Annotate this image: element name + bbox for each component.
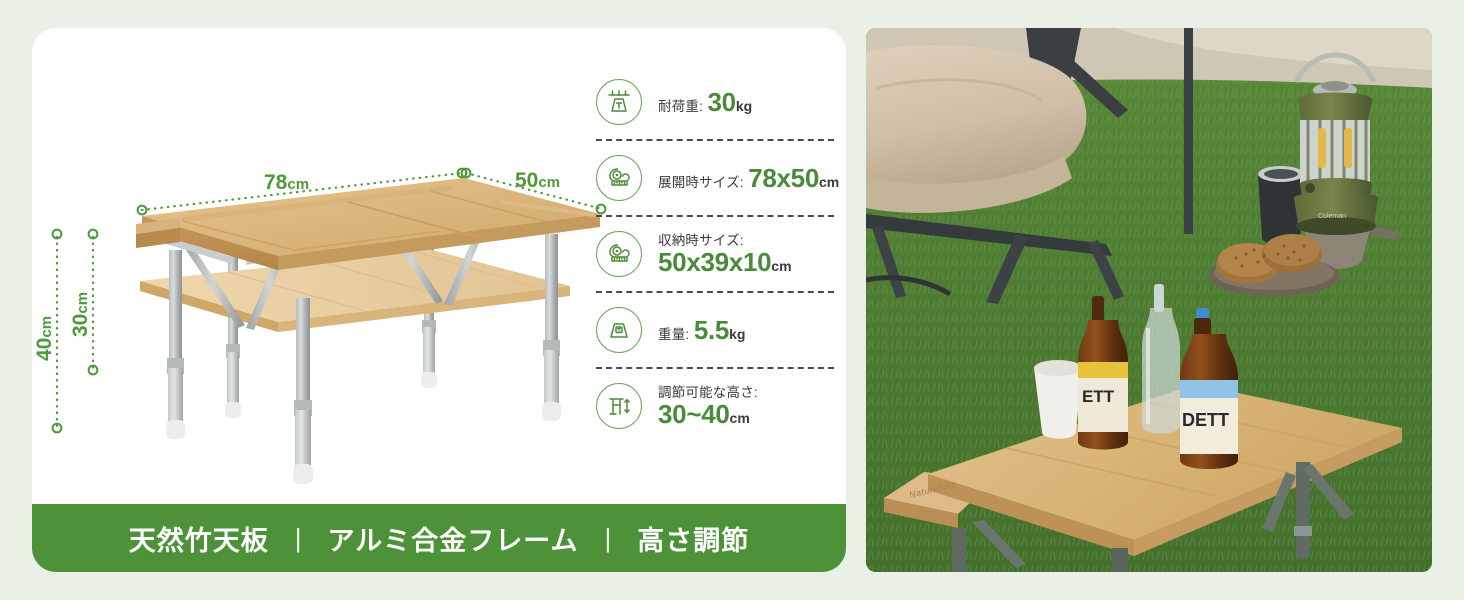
dimension-height-40cm: 40cm xyxy=(33,230,61,433)
table-lower-shelf xyxy=(140,250,570,332)
product-diagram: 78cm 50cm 40cm xyxy=(32,28,607,496)
measuring-tape-icon xyxy=(596,155,642,201)
adjustable-height-icon xyxy=(596,383,642,429)
lifestyle-photo-camping-table: Naturehike xyxy=(866,28,1432,572)
svg-text:78cm: 78cm xyxy=(264,171,309,194)
svg-text:DETT: DETT xyxy=(1182,410,1229,430)
banner-separator: | xyxy=(604,523,611,554)
spec-label: 調節可能な高さ: xyxy=(658,385,758,400)
spec-unit: cm xyxy=(771,258,791,274)
dimension-height-30cm: 30cm xyxy=(69,230,97,375)
svg-text:50cm: 50cm xyxy=(515,169,560,192)
spec-list: 耐荷重: 30kg xyxy=(590,68,846,496)
spec-row-weight: 重量: 5.5kg xyxy=(590,296,846,364)
svg-text:30cm: 30cm xyxy=(69,292,92,337)
spec-divider xyxy=(596,139,834,141)
table-leg-center xyxy=(293,298,313,484)
svg-text:ETT: ETT xyxy=(1082,387,1115,406)
load-capacity-icon xyxy=(596,79,642,125)
spec-value: 50x39x10cm xyxy=(658,247,792,277)
banner-separator: | xyxy=(295,523,302,554)
spec-row-adjustable-height: 調節可能な高さ: 30~40cm xyxy=(590,372,846,440)
spec-label: 展開時サイズ: xyxy=(658,175,744,190)
spec-value: 5.5kg xyxy=(694,315,746,345)
spec-divider xyxy=(596,215,834,217)
table-illustration xyxy=(136,178,600,484)
spec-unit: cm xyxy=(819,174,839,190)
spec-row-open-size: 展開時サイズ: 78x50cm xyxy=(590,144,846,212)
tent-pole xyxy=(1184,28,1193,234)
svg-text:40cm: 40cm xyxy=(33,316,56,361)
spec-divider xyxy=(596,367,834,369)
feature-banner: 天然竹天板 | アルミ合金フレーム | 高さ調節 xyxy=(32,504,846,572)
spec-row-load-capacity: 耐荷重: 30kg xyxy=(590,68,846,136)
spec-label: 耐荷重: xyxy=(658,99,703,114)
spec-divider xyxy=(596,291,834,293)
spec-value: 30kg xyxy=(708,87,753,117)
spec-label: 収納時サイズ: xyxy=(658,233,744,248)
weight-icon xyxy=(596,307,642,353)
infographic-stage: 78cm 50cm 40cm xyxy=(0,0,1464,600)
spec-value: 78x50cm xyxy=(748,163,839,193)
banner-feature-1: 天然竹天板 xyxy=(103,519,295,558)
banner-feature-2: アルミ合金フレーム xyxy=(302,519,605,558)
spec-label: 重量: xyxy=(658,327,689,342)
spec-value: 30~40cm xyxy=(658,399,750,429)
banner-feature-3: 高さ調節 xyxy=(611,519,775,558)
measuring-tape-icon xyxy=(596,231,642,277)
table-leg-front-right xyxy=(542,234,561,421)
spec-unit: cm xyxy=(730,410,750,426)
spec-unit: kg xyxy=(736,98,752,114)
left-info-card: 78cm 50cm 40cm xyxy=(32,28,846,572)
svg-text:Coleman: Coleman xyxy=(1318,213,1346,220)
spec-unit: kg xyxy=(729,326,745,342)
spec-row-folded-size: 収納時サイズ: 50x39x10cm xyxy=(590,220,846,288)
